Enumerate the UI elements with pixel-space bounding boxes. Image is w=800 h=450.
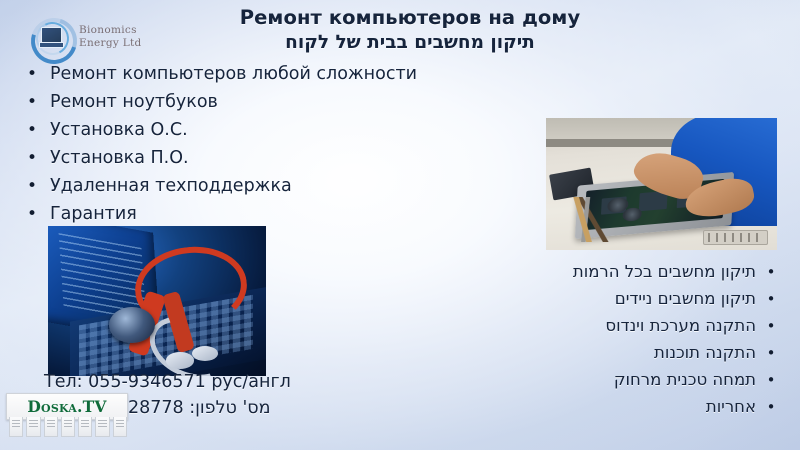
list-item: • Установка О.С. xyxy=(14,120,484,148)
tearoff-tab xyxy=(61,417,75,437)
list-item: • התקנה תוכנות xyxy=(456,343,786,370)
services-list-hebrew: • תיקון מחשבים בכל הרמות • תיקון מחשבים … xyxy=(456,262,786,424)
bullet-icon: • xyxy=(756,319,786,334)
bullet-icon: • xyxy=(14,150,50,167)
service-label: תיקון מחשבים ניידים xyxy=(456,289,756,308)
service-label: תמחה טכנית מרחוק xyxy=(456,370,756,389)
headline-hebrew: תיקון מחשבים בבית של לקוח xyxy=(190,32,630,53)
list-item: • Ремонт компьютеров любой сложности xyxy=(14,64,484,92)
service-label: Ремонт компьютеров любой сложности xyxy=(50,64,417,84)
bullet-icon: • xyxy=(14,122,50,139)
bullet-icon: • xyxy=(14,94,50,111)
bullet-icon: • xyxy=(756,265,786,280)
bullet-icon: • xyxy=(756,346,786,361)
bullet-icon: • xyxy=(756,373,786,388)
list-item: • Установка П.О. xyxy=(14,148,484,176)
service-label: Ремонт ноутбуков xyxy=(50,92,218,112)
list-item: • תמחה טכנית מרחוק xyxy=(456,370,786,397)
doska-tv-watermark: Doska.TV xyxy=(6,393,134,439)
bullet-icon: • xyxy=(756,400,786,415)
bullet-icon: • xyxy=(14,66,50,83)
computer-swoosh-logo-icon xyxy=(30,16,72,58)
service-label: Установка П.О. xyxy=(50,148,189,168)
tearoff-tab xyxy=(113,417,127,437)
watermark-plate: Doska.TV xyxy=(6,393,128,420)
brand-name-line-1: Bionomics xyxy=(79,24,142,37)
watermark-tearoff-tabs xyxy=(9,417,127,437)
advertisement-canvas: Bionomics Energy Ltd Ремонт компьютеров … xyxy=(0,0,800,450)
list-item: • תיקון מחשבים בכל הרמות xyxy=(456,262,786,289)
phone-hebrew: מס' טלפון: 28778 xyxy=(128,398,271,418)
headline-block: Ремонт компьютеров на дому תיקון מחשבים … xyxy=(190,6,630,53)
services-list-russian: • Ремонт компьютеров любой сложности • Р… xyxy=(14,64,484,232)
list-item: • Ремонт ноутбуков xyxy=(14,92,484,120)
service-label: התקנה תוכנות xyxy=(456,343,756,362)
tearoff-tab xyxy=(26,417,40,437)
brand-name: Bionomics Energy Ltd xyxy=(79,24,142,51)
service-label: אחריות xyxy=(456,397,756,416)
phone-russian: Тел: 055-9346571 рус/англ xyxy=(44,372,291,392)
list-item: • אחריות xyxy=(456,397,786,424)
service-label: תיקון מחשבים בכל הרמות xyxy=(456,262,756,281)
list-item: • Удаленная техподдержка xyxy=(14,176,484,204)
technician-repairing-laptop-photo xyxy=(546,118,777,250)
brand-logo: Bionomics Energy Ltd xyxy=(30,14,180,60)
laptop-with-stethoscope-photo xyxy=(48,226,266,376)
brand-name-line-2: Energy Ltd xyxy=(79,37,142,50)
tearoff-tab xyxy=(9,417,23,437)
list-item: • תיקון מחשבים ניידים xyxy=(456,289,786,316)
tearoff-tab xyxy=(44,417,58,437)
bullet-icon: • xyxy=(14,178,50,195)
service-label: Удаленная техподдержка xyxy=(50,176,292,196)
watermark-label: Doska.TV xyxy=(27,397,106,416)
service-label: התקנה מערכת וינדוס xyxy=(456,316,756,335)
bullet-icon: • xyxy=(14,206,50,223)
headline-russian: Ремонт компьютеров на дому xyxy=(190,6,630,29)
tearoff-tab xyxy=(95,417,109,437)
list-item: • התקנה מערכת וינדוס xyxy=(456,316,786,343)
tearoff-tab xyxy=(78,417,92,437)
service-label: Установка О.С. xyxy=(50,120,188,140)
bullet-icon: • xyxy=(756,292,786,307)
service-label: Гарантия xyxy=(50,204,137,224)
